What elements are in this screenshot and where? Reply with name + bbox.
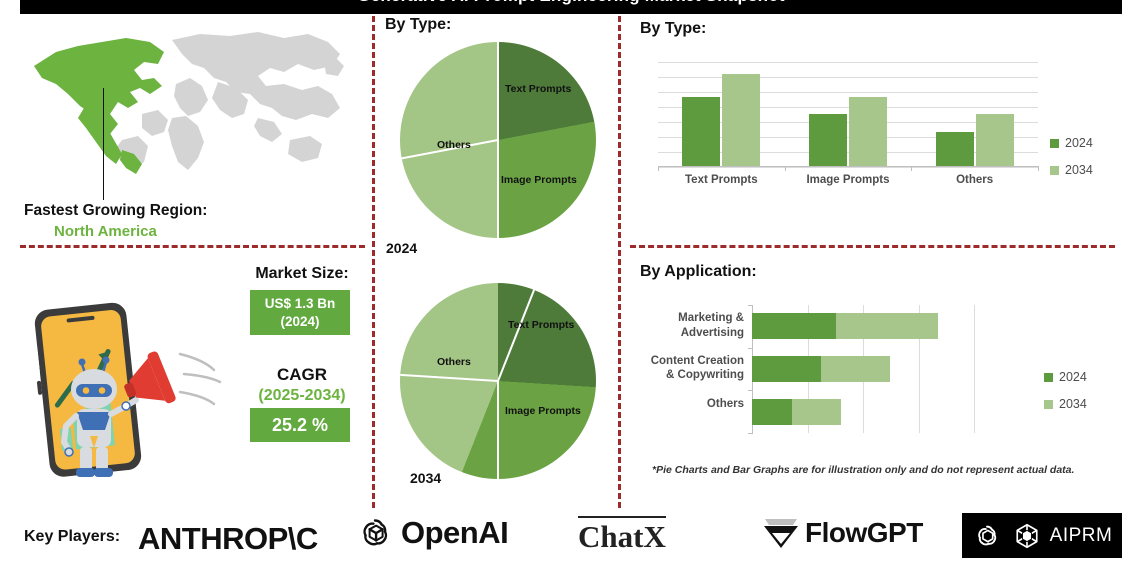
x-tick — [911, 166, 912, 171]
cagr-value-box: 25.2 % — [250, 408, 350, 442]
fastest-growing-region-label: Fastest Growing Region: — [24, 202, 207, 220]
market-size-value: US$ 1.3 Bn — [265, 295, 336, 313]
cagr-years: (2025-2034) — [240, 387, 364, 405]
bar-segment-2024 — [752, 313, 836, 339]
cagr-value: 25.2 % — [272, 415, 328, 436]
phone-robot-megaphone-icon — [8, 290, 248, 485]
y-tick — [748, 433, 753, 434]
pie-slice-divider — [400, 374, 498, 382]
x-axis-label: Others — [911, 174, 1038, 186]
gridline — [658, 77, 1038, 78]
pie-2034-label-image-prompts: Image Prompts — [505, 405, 581, 417]
flowgpt-logo: FlowGPT — [760, 514, 923, 552]
key-players-label: Key Players: — [24, 528, 120, 546]
bar-chart-by-type: Text PromptsImage PromptsOthers — [658, 62, 1038, 167]
legend-label: 2034 — [1059, 397, 1087, 411]
flowgpt-logo-text: FlowGPT — [805, 517, 923, 549]
x-axis — [658, 166, 1038, 167]
legend-item: 2024 — [1044, 370, 1087, 384]
pie-chart-2024 — [400, 42, 596, 238]
cagr-title: CAGR — [246, 365, 358, 385]
pie-2034-label-text-prompts: Text Prompts — [508, 319, 574, 331]
legend-label: 2024 — [1059, 370, 1087, 384]
aiprm-logo-text: AIPRM — [1050, 525, 1113, 547]
pie-slice-divider — [497, 140, 499, 238]
map-pointer-line — [103, 88, 104, 200]
legend-label: 2034 — [1065, 163, 1093, 177]
openai-logo: OpenAI — [355, 513, 508, 553]
openai-mark-icon — [355, 513, 395, 553]
top-banner: Generative AI Prompt Engineering Market … — [20, 0, 1122, 14]
y-axis-label: Marketing & Advertising — [620, 311, 744, 340]
market-size-value-box: US$ 1.3 Bn (2024) — [250, 290, 350, 335]
pie-slice-divider — [497, 290, 535, 382]
divider-horizontal-right — [630, 245, 1115, 248]
legend-by-type: 20242034 — [1050, 136, 1093, 190]
pie-2034-year: 2034 — [410, 470, 441, 486]
y-tick — [748, 348, 753, 349]
pie-2024-label-image-prompts: Image Prompts — [501, 174, 577, 186]
legend-swatch — [1044, 373, 1053, 382]
pie-2024-year: 2024 — [386, 240, 417, 256]
market-size-year: (2024) — [280, 313, 319, 331]
bar-segment-2024 — [752, 356, 821, 382]
legend-swatch — [1050, 139, 1059, 148]
infographic-root: Generative AI Prompt Engineering Market … — [0, 0, 1140, 570]
x-axis-label: Image Prompts — [785, 174, 912, 186]
bar-2024 — [809, 114, 847, 167]
bar-2024 — [936, 132, 974, 166]
legend-swatch — [1050, 166, 1059, 175]
gridline — [658, 92, 1038, 93]
legend-label: 2024 — [1065, 136, 1093, 150]
openai-logo-text: OpenAI — [401, 515, 508, 551]
x-tick — [785, 166, 786, 171]
divider-horizontal-left — [20, 245, 365, 248]
legend-by-application: 20242034 — [1044, 370, 1087, 424]
banner-title: Generative AI Prompt Engineering Market … — [20, 0, 1122, 6]
bar-segment-2034 — [836, 313, 938, 339]
bar-chart-by-application: Marketing & AdvertisingContent Creation … — [752, 305, 974, 433]
right-by-type-title: By Type: — [640, 20, 706, 38]
legend-item: 2024 — [1050, 136, 1093, 150]
bar-2034 — [849, 97, 887, 166]
bar-2034 — [722, 74, 760, 166]
x-tick — [658, 166, 659, 171]
x-axis-label: Text Prompts — [658, 174, 785, 186]
legend-item: 2034 — [1050, 163, 1093, 177]
y-tick — [748, 305, 753, 306]
y-axis-label: Content Creation & Copywriting — [620, 354, 744, 383]
legend-swatch — [1044, 400, 1053, 409]
flowgpt-mark-icon — [760, 514, 802, 552]
bar-2024 — [682, 97, 720, 166]
x-tick — [1038, 166, 1039, 171]
aiprm-logo: AIPRM — [962, 513, 1122, 558]
divider-vertical-right — [618, 16, 621, 508]
y-axis-label: Others — [620, 397, 744, 411]
gridline — [974, 305, 975, 433]
world-map-icon — [22, 22, 352, 192]
pie-2024-label-others: Others — [437, 139, 471, 151]
chatx-logo: ChatX — [578, 516, 666, 555]
market-size-title: Market Size: — [246, 265, 358, 283]
aiprm-mark-icon — [1012, 521, 1042, 551]
bar-segment-2024 — [752, 399, 792, 425]
bar-2034 — [976, 114, 1014, 167]
pie-2024-label-text-prompts: Text Prompts — [505, 83, 571, 95]
pie-slice-divider — [497, 381, 499, 479]
fastest-growing-region-value: North America — [54, 223, 157, 240]
gridline — [658, 62, 1038, 63]
chart-footnote: *Pie Charts and Bar Graphs are for illus… — [652, 464, 1074, 476]
openai-mark-small-icon — [972, 521, 1002, 551]
pie-slice-divider — [497, 42, 499, 140]
gridline — [658, 167, 1038, 168]
divider-vertical-left — [372, 16, 375, 508]
bar-segment-2034 — [792, 399, 841, 425]
anthropic-logo: ANTHROP\C — [138, 521, 318, 557]
y-tick — [748, 390, 753, 391]
bar-segment-2034 — [821, 356, 890, 382]
middle-by-type-title: By Type: — [385, 16, 451, 34]
pie-2034-label-others: Others — [437, 356, 471, 368]
right-by-application-title: By Application: — [640, 263, 757, 281]
legend-item: 2034 — [1044, 397, 1087, 411]
pie-chart-2034 — [400, 283, 596, 479]
